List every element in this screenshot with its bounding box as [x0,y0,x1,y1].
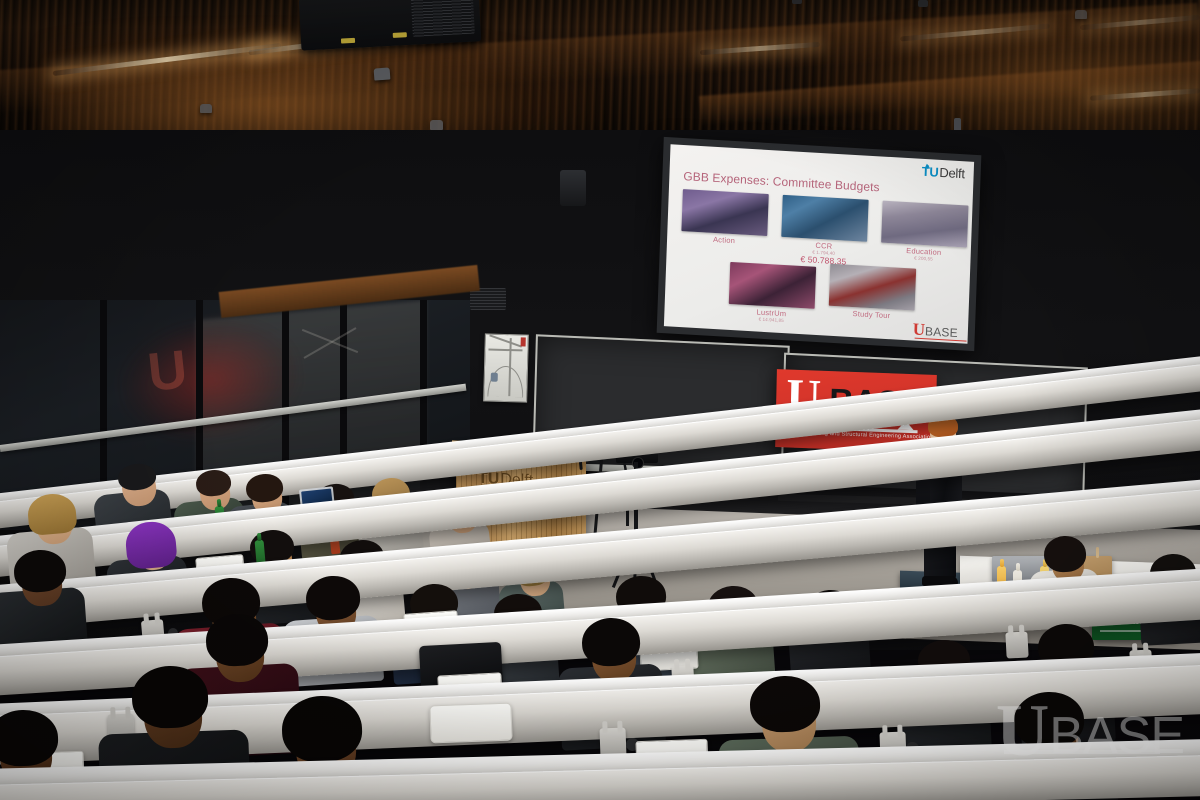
food-container [429,703,512,744]
committee-cell-action: Action [681,189,769,246]
committee-photo [781,195,868,242]
desk-clamp [1005,631,1028,658]
person-hair [131,665,209,730]
committee-cell-ccr: CCR € 1.794,40 € 50.788,35 [780,195,868,267]
ceiling-spotlight-icon [430,120,443,130]
tiered-seating [0,470,1200,800]
committee-cell-education: Education € 200,55 [881,201,969,263]
bottle-neck [216,499,221,507]
ruler-bar [489,334,522,347]
person-hair [749,675,821,733]
person-hair [281,695,363,764]
wall-vent-icon [470,288,506,310]
u-logo-reflection: U [145,338,190,404]
slide-ubase-underline [914,337,966,341]
ceiling [0,0,1200,150]
slide-ubase-u: U [913,321,926,337]
tudelft-logo-delft: Delft [939,165,965,181]
ceiling-spotlight-icon [374,67,391,80]
tudelft-logo: TU Delft [921,164,964,181]
committee-cell-study-tour: Study Tour [828,264,916,321]
person-hair [1013,691,1085,749]
ceiling-spotlight-icon [1075,10,1087,19]
wall-speaker-icon [560,170,586,206]
drafting-knob [491,373,498,382]
committee-photo [681,189,768,236]
bottle-neck [256,533,261,541]
projection-screen: ♦ TU Delft GBB Expenses: Committee Budge… [657,137,982,351]
ruler-bar [488,349,522,351]
ceiling-spotlight-icon [200,104,212,113]
banner-clip [918,0,928,7]
projector-label-tag [341,38,355,44]
slide-photo-grid: Action CCR € 1.794,40 € 50.788,35 Educat… [683,189,969,205]
committee-cell-lustrum: LustrUm € 14.941,85 [728,262,816,324]
tudelft-logo-tu: TU [921,164,938,180]
committee-photo [729,262,816,309]
projector-label-tag [393,32,407,38]
committee-photo [829,264,916,311]
drafting-tools-icon [483,333,529,402]
banner-clip [792,0,802,4]
slide-ubase-logo: U BASE [913,321,959,339]
drafting-clip [521,337,526,346]
committee-photo [881,201,968,248]
presentation-slide: ♦ TU Delft GBB Expenses: Committee Budge… [664,144,974,343]
lecture-hall-photo: U ♦ TU Delft GBB Expenses: Committee Bud… [0,0,1200,800]
projector-vent [411,0,475,37]
